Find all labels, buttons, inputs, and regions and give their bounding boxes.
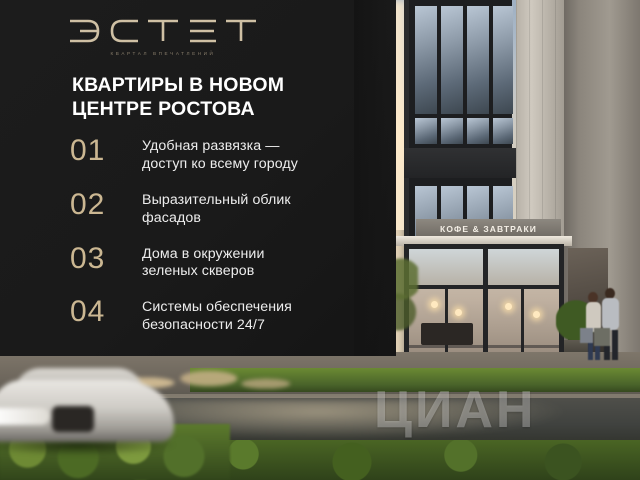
page-title: КВАРТИРЫ В НОВОМ ЦЕНТРЕ РОСТОВА xyxy=(72,74,372,122)
list-item: 02 Выразительный облик фасадов xyxy=(70,190,390,228)
moving-car xyxy=(0,368,178,454)
list-item: 01 Удобная развязка — доступ ко всему го… xyxy=(70,136,390,174)
brand-logo: КВАРТАЛ ВПЕЧАТЛЕНИЙ xyxy=(68,16,258,56)
feature-number: 01 xyxy=(70,136,142,166)
feature-text-line-2: доступ ко всему городу xyxy=(142,156,298,172)
feature-text-line-1: Удобная развязка — xyxy=(142,138,280,154)
feature-text-line-1: Выразительный облик xyxy=(142,192,291,208)
feature-text: Системы обеспечения безопасности 24/7 xyxy=(142,297,292,335)
feature-number: 02 xyxy=(70,190,142,220)
list-item: 04 Системы обеспечения безопасности 24/7 xyxy=(70,297,390,335)
feature-text: Дома в окружении зеленых скверов xyxy=(142,244,264,282)
headline-line-1: КВАРТИРЫ В НОВОМ xyxy=(72,74,284,96)
feature-number: 04 xyxy=(70,297,142,327)
advertisement-banner: КОФЕ & ЗАВТРАКИ xyxy=(0,0,640,480)
feature-text: Удобная развязка — доступ ко всему город… xyxy=(142,136,298,174)
headline-line-2: ЦЕНТРЕ РОСТОВА xyxy=(72,98,372,122)
info-panel: КВАРТАЛ ВПЕЧАТЛЕНИЙ КВАРТИРЫ В НОВОМ ЦЕН… xyxy=(0,0,396,356)
feature-list: 01 Удобная развязка — доступ ко всему го… xyxy=(70,136,390,351)
logo-wordmark-icon xyxy=(68,16,258,46)
feature-text-line-2: фасадов xyxy=(142,210,201,226)
feature-text-line-2: безопасности 24/7 xyxy=(142,317,265,333)
storefront-glazing xyxy=(404,244,564,368)
feature-number: 03 xyxy=(70,244,142,274)
list-item: 03 Дома в окружении зеленых скверов xyxy=(70,244,390,282)
brand-tagline: КВАРТАЛ ВПЕЧАТЛЕНИЙ xyxy=(68,51,258,56)
pedestrian-man xyxy=(600,288,622,366)
feature-text-line-1: Системы обеспечения xyxy=(142,299,292,315)
feature-text: Выразительный облик фасадов xyxy=(142,190,291,228)
spandrel-band xyxy=(404,148,516,178)
cafe-sign-label: КОФЕ & ЗАВТРАКИ xyxy=(440,224,537,234)
feature-text-line-1: Дома в окружении xyxy=(142,246,264,262)
feature-text-line-2: зеленых скверов xyxy=(142,263,254,279)
